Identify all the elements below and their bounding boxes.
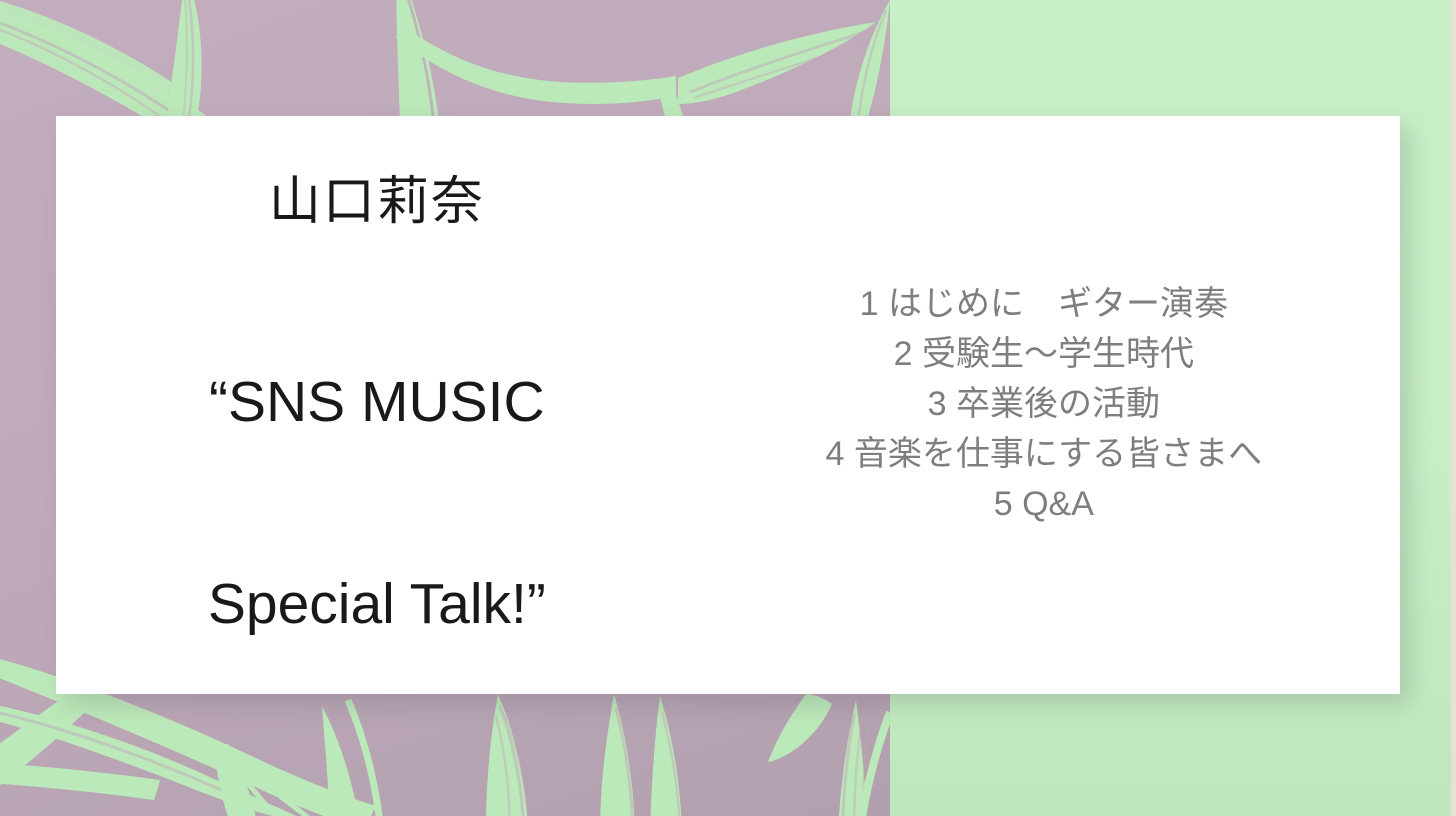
presentation-slide: 山口莉奈 “SNS MUSIC Special Talk!” 1 はじめに ギタ…: [0, 0, 1456, 816]
title-line-name: 山口莉奈: [208, 172, 546, 233]
agenda-item-4: 4 音楽を仕事にする皆さまへ: [825, 430, 1262, 480]
slide-title: 山口莉奈 “SNS MUSIC Special Talk!”: [208, 37, 546, 773]
title-column: 山口莉奈 “SNS MUSIC Special Talk!”: [56, 37, 688, 773]
title-line-main: “SNS MUSIC: [208, 369, 546, 436]
agenda-list: 1 はじめに ギター演奏 2 受験生〜学生時代 3 卒業後の活動 4 音楽を仕事…: [825, 280, 1262, 530]
right-edge-stripe: [1451, 0, 1456, 816]
agenda-item-1: 1 はじめに ギター演奏: [825, 280, 1262, 330]
agenda-column: 1 はじめに ギター演奏 2 受験生〜学生時代 3 卒業後の活動 4 音楽を仕事…: [688, 280, 1400, 530]
title-line-sub: Special Talk!”: [208, 571, 546, 638]
agenda-item-5: 5 Q&A: [825, 480, 1262, 530]
agenda-item-2: 2 受験生〜学生時代: [825, 330, 1262, 380]
agenda-item-3: 3 卒業後の活動: [825, 380, 1262, 430]
content-card: 山口莉奈 “SNS MUSIC Special Talk!” 1 はじめに ギタ…: [56, 116, 1400, 694]
